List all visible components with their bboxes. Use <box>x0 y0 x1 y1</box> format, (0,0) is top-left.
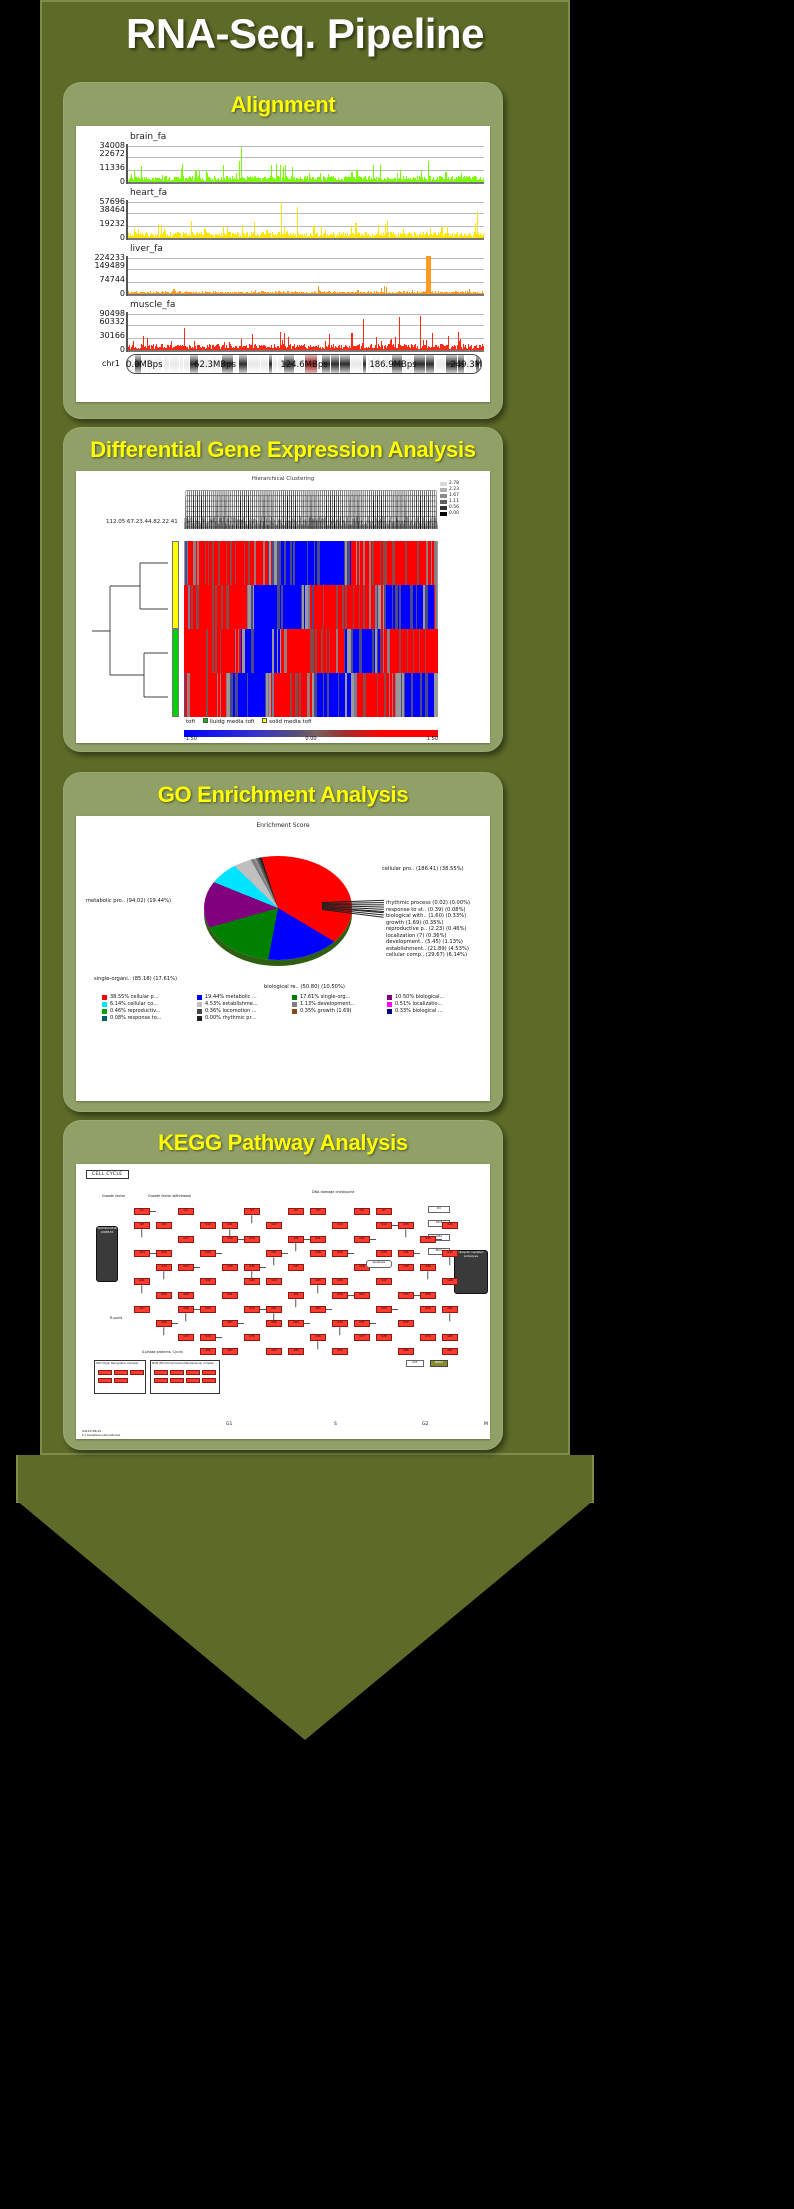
legend-swatch <box>197 1009 202 1014</box>
group-band <box>172 541 179 629</box>
kegg-gene-box: G82 <box>222 1348 238 1355</box>
kegg-gene-box: G28 <box>310 1250 326 1257</box>
kegg-gene-box: G2 <box>178 1208 194 1215</box>
kegg-apoptosis-box: Apoptosis <box>366 1260 392 1268</box>
kegg-gene-box: G23 <box>420 1236 436 1243</box>
color-key-label: 0.00 <box>449 511 459 516</box>
track-y-axis: 3400822672113360 <box>76 142 126 186</box>
kegg-annotation: Growth factor withdrawal <box>148 1194 191 1198</box>
kegg-annotation: DNA damage checkpoint <box>312 1190 354 1194</box>
column-dendrogram <box>184 483 438 529</box>
axis-tick: 30166 <box>100 332 125 340</box>
track-plot <box>128 144 484 184</box>
kegg-gene-box: G51 <box>222 1292 238 1299</box>
kegg-gene-box: G83 <box>266 1348 282 1355</box>
gradient-tick: 1.50 <box>427 736 438 742</box>
kegg-gene-box <box>186 1370 200 1375</box>
kegg-gene-box: G29 <box>332 1250 348 1257</box>
kegg-edge <box>252 1215 253 1223</box>
kegg-gene-box: G49 <box>156 1292 172 1299</box>
kegg-gene-box: G85 <box>332 1348 348 1355</box>
pie-slice-label: biological re.. (50.80) (10.50%) <box>264 984 345 991</box>
go-legend-label: 10.50% biological... <box>395 994 444 1000</box>
kegg-annotation: Growth factor <box>102 1194 125 1198</box>
track-y-axis: 9049860332301660 <box>76 310 126 354</box>
genomic-axis-tick: 62.3MBps <box>194 360 236 370</box>
axis-tick: 0 <box>120 290 125 298</box>
kegg-edge <box>318 1285 319 1293</box>
kegg-gene-box: G6 <box>354 1208 370 1215</box>
kegg-mcm-complex: MCM NUCLEAR COMPLEX <box>96 1226 118 1282</box>
legend-swatch <box>102 1009 107 1014</box>
gradient-tick: 0.00 <box>305 736 316 742</box>
track-plot <box>128 312 484 352</box>
kegg-phase-label: G1 <box>226 1422 232 1427</box>
coverage-bars <box>128 310 484 350</box>
kegg-gene-box <box>98 1378 112 1383</box>
genomic-axis-tick: 0.0MBps <box>126 360 163 370</box>
kegg-edge <box>150 1211 156 1212</box>
kegg-gene-box: G78 <box>376 1334 392 1341</box>
axis-tick: 19232 <box>100 220 125 228</box>
kegg-gene-box: G76 <box>310 1334 326 1341</box>
go-legend-entry: 19.44% metabolic ... <box>197 994 290 1000</box>
legend-label: liuidg media tofi <box>210 719 256 725</box>
kegg-gene-box: G43 <box>244 1278 260 1285</box>
kegg-gene-box: G53 <box>332 1292 348 1299</box>
go-legend-label: 6.14% cellular co... <box>110 1001 158 1007</box>
kegg-gene-box: G59 <box>200 1306 216 1313</box>
kegg-gene-box: G47 <box>376 1278 392 1285</box>
kegg-footer: 04110 08/12(c) Kanehisa Laboratories <box>82 1429 120 1437</box>
go-legend-entry: 0.00% rhythmic pr... <box>197 1015 290 1021</box>
pie-slice-label: metabolic pro.. (94.02) (19.44%) <box>86 898 171 905</box>
row-dendrogram <box>88 541 170 717</box>
go-legend-label: 0.35% growth (1.69) <box>300 1008 352 1014</box>
kegg-gene-box: G33 <box>156 1264 172 1271</box>
legend-swatch <box>102 1016 107 1021</box>
dendrogram-color-key: 2.782.231.671.110.560.00 <box>440 481 486 517</box>
axis-tick: 0 <box>120 234 125 242</box>
color-key-label: 2.78 <box>449 481 459 486</box>
track-y-axis: 5769638464192320 <box>76 198 126 242</box>
kegg-gene-box: G39 <box>398 1264 414 1271</box>
kegg-gene-box: G10 <box>200 1222 216 1229</box>
panel-title-kegg: KEGG Pathway Analysis <box>64 1121 502 1156</box>
kegg-edge <box>296 1299 297 1307</box>
kegg-canvas: Growth factorGrowth factor withdrawalDNA… <box>76 1164 490 1439</box>
kegg-gene-box <box>170 1370 184 1375</box>
kegg-gene-box: G46 <box>332 1278 348 1285</box>
kegg-gene-box: G87 <box>442 1348 458 1355</box>
legend-swatch <box>292 1002 297 1007</box>
kegg-gene-box <box>202 1378 216 1383</box>
kegg-gene-box: G1 <box>134 1208 150 1215</box>
track-label: liver_fa <box>130 244 163 254</box>
kegg-gene-box: G58 <box>178 1306 194 1313</box>
kegg-mcm-table: MCM (Mini-Chromosome Maintenance) comple… <box>150 1360 220 1394</box>
kegg-edge <box>282 1253 288 1254</box>
kegg-gene-box: G63 <box>376 1306 392 1313</box>
panel-title-dge: Differential Gene Expression Analysis <box>64 428 502 463</box>
kegg-gene-box: G61 <box>266 1306 282 1313</box>
kegg-gene-box: G67 <box>222 1320 238 1327</box>
kegg-gene-box: G80 <box>442 1334 458 1341</box>
coverage-bars <box>128 198 484 238</box>
alignment-track-heart_fa: heart_fa5769638464192320 <box>76 188 490 244</box>
heatmap-figure: Hierarchical Clustering 2.782.231.671.11… <box>76 471 490 743</box>
kegg-edge <box>436 1239 442 1240</box>
color-key-label: 2.23 <box>449 487 459 492</box>
kegg-gene-box: G66 <box>156 1320 172 1327</box>
kegg-gene-box: G14 <box>376 1222 392 1229</box>
go-legend-entry: 10.50% biological... <box>387 994 480 1000</box>
kegg-gene-box: G22 <box>354 1236 370 1243</box>
legend-swatch <box>102 995 107 1000</box>
go-legend-entry: 4.53% establishme... <box>197 1001 290 1007</box>
kegg-gene-box: G48 <box>442 1278 458 1285</box>
kegg-gene-box <box>98 1370 112 1375</box>
alignment-track-brain_fa: brain_fa3400822672113360 <box>76 132 490 188</box>
track-label: heart_fa <box>130 188 167 198</box>
color-swatch <box>440 494 447 498</box>
go-legend-label: 38.55% cellular p... <box>110 994 158 1000</box>
genomic-axis: 0.0MBps62.3MBps124.6MBps186.9MBps249.3M <box>126 360 482 374</box>
kegg-gene-box: G21 <box>310 1236 326 1243</box>
kegg-gene-box: G81 <box>200 1348 216 1355</box>
heatmap-row <box>184 629 438 673</box>
kegg-gene-box: G37 <box>288 1264 304 1271</box>
color-swatch <box>440 500 447 504</box>
axis-tick: 0 <box>120 178 125 186</box>
kegg-mdm2-box: MDM2 <box>430 1360 448 1367</box>
kegg-gene-box: G36 <box>244 1264 260 1271</box>
legend-entry: liuidg media tofi <box>197 719 256 725</box>
kegg-edge <box>164 1327 165 1335</box>
kegg-gene-box <box>154 1378 168 1383</box>
legend-swatch <box>262 718 267 723</box>
pie-chart-wrapper: cellular pro.. (186.41) (38.55%)metaboli… <box>204 856 352 968</box>
kegg-gene-box <box>154 1370 168 1375</box>
legend-label: tofi <box>186 719 197 725</box>
kegg-gene-box: G70 <box>332 1320 348 1327</box>
kegg-phase-label: M <box>484 1422 488 1427</box>
kegg-gene-box: G56 <box>420 1292 436 1299</box>
track-label: muscle_fa <box>130 300 175 310</box>
heatmap-row <box>184 585 438 629</box>
kegg-gene-box: G18 <box>222 1236 238 1243</box>
chromosome-label: chr1 <box>102 359 120 368</box>
color-swatch <box>440 482 447 486</box>
legend-entry: solid media tofi <box>256 719 311 725</box>
kegg-edge <box>142 1229 143 1237</box>
kegg-gene-box: G40 <box>420 1264 436 1271</box>
color-swatch <box>440 488 447 492</box>
kegg-gene-box: G17 <box>178 1236 194 1243</box>
kegg-edge <box>296 1243 297 1251</box>
kegg-gene-box: G20 <box>288 1236 304 1243</box>
color-key-label: 0.56 <box>449 505 459 510</box>
legend-entry: tofi <box>186 719 197 725</box>
kegg-edge <box>340 1327 341 1335</box>
go-legend-label: 1.13% development... <box>300 1001 355 1007</box>
kegg-gene-box: G15 <box>398 1222 414 1229</box>
kegg-gene-box: G42 <box>200 1278 216 1285</box>
coverage-bars <box>128 142 484 182</box>
kegg-edge <box>186 1313 187 1321</box>
kegg-gene-box: G69 <box>288 1320 304 1327</box>
axis-tick: 11336 <box>100 164 125 172</box>
color-key-label: 1.11 <box>449 499 459 504</box>
go-legend-entry: 0.33% biological ... <box>387 1008 480 1014</box>
axis-tick: 60332 <box>100 318 125 326</box>
legend-swatch <box>197 1002 202 1007</box>
kegg-edge <box>216 1253 222 1254</box>
kegg-gene-box <box>130 1370 144 1375</box>
track-y-axis: 224233149489747440 <box>76 254 126 298</box>
go-legend-entry: 0.08% response to... <box>102 1015 195 1021</box>
go-legend-label: 0.51% localizatio... <box>395 1001 442 1007</box>
kegg-edge <box>428 1271 429 1279</box>
axis-tick: 38464 <box>100 206 125 214</box>
axis-tick: 22672 <box>100 150 125 158</box>
kegg-gene-box: G57 <box>134 1306 150 1313</box>
kegg-pathway-map: Growth factorGrowth factor withdrawalDNA… <box>76 1164 490 1439</box>
kegg-edge <box>142 1285 143 1293</box>
go-legend-label: 0.36% locomotion ... <box>205 1008 257 1014</box>
kegg-gene-box: G32 <box>442 1250 458 1257</box>
kegg-phase-label: G2 <box>422 1422 428 1427</box>
go-legend-entry: 0.46% reproductiv... <box>102 1008 195 1014</box>
kegg-gene-box: G8 <box>134 1222 150 1229</box>
kegg-gene-box: G4 <box>288 1208 304 1215</box>
kegg-gene-box <box>186 1378 200 1383</box>
kegg-edge <box>392 1309 398 1310</box>
legend-swatch <box>197 1016 202 1021</box>
kegg-gene-box: G35 <box>222 1264 238 1271</box>
panel-title-alignment: Alignment <box>64 83 502 118</box>
panel-go-enrichment[interactable]: GO Enrichment Analysis Enrichment Score … <box>63 772 503 1112</box>
alignment-track-liver_fa: liver_fa224233149489747440 <box>76 244 490 300</box>
kegg-gene-box: G52 <box>288 1292 304 1299</box>
kegg-gene-box: G41 <box>134 1278 150 1285</box>
kegg-gene-box: G9 <box>156 1222 172 1229</box>
go-legend-entry: 0.51% localizatio... <box>387 1001 480 1007</box>
go-legend-entry: 17.61% single-org... <box>292 994 385 1000</box>
kegg-ubiquitin-box: Ubiquitin mediated proteolysis <box>454 1250 488 1294</box>
go-legend-label: 17.61% single-org... <box>300 994 350 1000</box>
kegg-gene-box: G34 <box>178 1264 194 1271</box>
pie-small-labels: rhythmic process (0.02) (0.00%)response … <box>386 900 490 959</box>
coverage-bars <box>128 254 484 294</box>
kegg-gene-box: G30 <box>376 1250 392 1257</box>
heatmap-row <box>184 541 438 585</box>
kegg-gene-box: G27 <box>266 1250 282 1257</box>
kegg-gene-box: G75 <box>244 1334 260 1341</box>
kegg-gene-box: G86 <box>398 1348 414 1355</box>
kegg-edge <box>260 1267 266 1268</box>
kegg-gene-box: G13 <box>332 1222 348 1229</box>
pie-slice-label: cellular pro.. (186.41) (38.55%) <box>382 866 464 873</box>
panel-alignment[interactable]: Alignment brain_fa3400822672113360heart_… <box>63 82 503 419</box>
arrow-wings <box>16 1455 594 1503</box>
color-key-label: 1.67 <box>449 493 459 498</box>
kegg-gene-box: G60 <box>244 1306 260 1313</box>
go-legend-entry: 38.55% cellular p... <box>102 994 195 1000</box>
panel-title-go: GO Enrichment Analysis <box>64 773 502 808</box>
go-legend-label: 0.08% response to... <box>110 1015 161 1021</box>
panel-kegg-pathway[interactable]: KEGG Pathway Analysis Growth factorGrowt… <box>63 1120 503 1450</box>
pie-slice-label: single-organi.. (85.18) (17.61%) <box>94 976 177 983</box>
kegg-gene-box: G72 <box>398 1320 414 1327</box>
kegg-edge <box>414 1253 420 1254</box>
arrow-head <box>16 1500 594 1740</box>
genomic-axis-tick: 186.9MBps <box>369 360 416 370</box>
kegg-side-orc: Orc <box>428 1206 450 1213</box>
kegg-gene-box: G84 <box>288 1348 304 1355</box>
kegg-edge <box>238 1323 244 1324</box>
go-chart-title: Enrichment Score <box>256 822 309 829</box>
kegg-gene-box: G3 <box>244 1208 260 1215</box>
go-legend-label: 4.53% establishme... <box>205 1001 258 1007</box>
legend-swatch <box>387 995 392 1000</box>
chromosome-ideogram-wrapper: chr10.0MBps62.3MBps124.6MBps186.9MBps249… <box>76 350 490 378</box>
legend-swatch <box>292 995 297 1000</box>
kegg-orc-table: ORC Origin Recognition Complex <box>94 1360 146 1394</box>
kegg-edge <box>274 1257 275 1265</box>
kegg-edge <box>172 1323 178 1324</box>
kegg-gene-box <box>202 1370 216 1375</box>
legend-swatch <box>102 1002 107 1007</box>
alignment-track-muscle_fa: muscle_fa9049860332301660 <box>76 300 490 356</box>
go-pie-figure: Enrichment Score cellular pro.. (186.41)… <box>76 816 490 1101</box>
track-label: brain_fa <box>130 132 166 142</box>
kegg-gene-box: G11 <box>222 1222 238 1229</box>
go-legend-entry: 0.36% locomotion ... <box>197 1008 290 1014</box>
gradient-tick: -1.50 <box>184 736 197 742</box>
kegg-gene-box: G62 <box>310 1306 326 1313</box>
kegg-p53-box: p53 <box>406 1360 424 1367</box>
kegg-gene-box <box>114 1370 128 1375</box>
group-color-bar <box>172 541 179 717</box>
kegg-phase-label: S <box>334 1422 337 1427</box>
kegg-edge <box>406 1229 407 1237</box>
kegg-gene-box: G31 <box>398 1250 414 1257</box>
kegg-edge <box>318 1341 319 1349</box>
color-swatch <box>440 506 447 510</box>
kegg-gene-box: G77 <box>354 1334 370 1341</box>
kegg-gene-box: G26 <box>200 1250 216 1257</box>
go-legend-entry: 1.13% development... <box>292 1001 385 1007</box>
kegg-annotation: S-phase proteins, Cyclin <box>142 1350 183 1354</box>
kegg-gene-box <box>114 1378 128 1383</box>
row-axis-ticks: 112.05 67.23.44.82.22.41 <box>106 519 178 533</box>
go-legend-label: 0.33% biological ... <box>395 1008 443 1014</box>
axis-tick: 74744 <box>100 276 125 284</box>
go-legend: 38.55% cellular p...19.44% metabolic ...… <box>102 994 480 1021</box>
color-key-entry: 0.00 <box>440 511 486 517</box>
heatmap-title: Hierarchical Clustering <box>252 476 315 482</box>
pie-slice-label: cellular comp.. (29.67) (6.14%) <box>386 952 490 959</box>
kegg-gene-box: G50 <box>178 1292 194 1299</box>
kegg-gene-box: G7 <box>376 1208 392 1215</box>
legend-swatch <box>203 718 208 723</box>
legend-swatch <box>387 1002 392 1007</box>
kegg-gene-box: G73 <box>178 1334 194 1341</box>
kegg-gene-box: G16 <box>442 1222 458 1229</box>
color-swatch <box>440 512 447 516</box>
kegg-edge <box>450 1257 451 1265</box>
kegg-gene-box: G12 <box>266 1222 282 1229</box>
heatmap-legend: tofi liuidg media tofi solid media tofi <box>186 718 312 725</box>
legend-swatch <box>197 995 202 1000</box>
kegg-gene-box: G74 <box>200 1334 216 1341</box>
kegg-gene-box: G64 <box>420 1306 436 1313</box>
kegg-edge <box>326 1309 332 1310</box>
kegg-gene-box: G68 <box>266 1320 282 1327</box>
kegg-gene-box: G55 <box>398 1292 414 1299</box>
kegg-edge <box>450 1313 451 1321</box>
heatmap-gradient-labels: -1.500.001.50 <box>184 736 438 743</box>
kegg-gene-box: G71 <box>354 1320 370 1327</box>
kegg-gene-box: G65 <box>442 1306 458 1313</box>
group-band <box>172 629 179 717</box>
kegg-gene-box: G19 <box>244 1236 260 1243</box>
alignment-plot: brain_fa3400822672113360heart_fa57696384… <box>76 126 490 402</box>
kegg-edge <box>370 1239 376 1240</box>
kegg-edge <box>348 1253 354 1254</box>
heatmap-grid <box>184 541 438 717</box>
axis-tick: 149489 <box>94 262 125 270</box>
kegg-gene-box: G5 <box>310 1208 326 1215</box>
go-legend-label: 0.00% rhythmic pr... <box>205 1015 256 1021</box>
kegg-gene-box: G79 <box>420 1334 436 1341</box>
kegg-gene-box <box>170 1378 184 1383</box>
kegg-edge <box>164 1271 165 1279</box>
heatmap-row <box>184 673 438 717</box>
legend-label: solid media tofi <box>269 719 311 725</box>
kegg-gene-box: G45 <box>310 1278 326 1285</box>
track-plot <box>128 256 484 296</box>
kegg-gene-box: G44 <box>266 1278 282 1285</box>
page-title: RNA-Seq. Pipeline <box>40 10 570 58</box>
kegg-edge <box>194 1267 200 1268</box>
kegg-gene-box: G24 <box>134 1250 150 1257</box>
genomic-axis-tick: 249.3M <box>450 360 482 370</box>
kegg-gene-box: G25 <box>156 1250 172 1257</box>
track-plot <box>128 200 484 240</box>
kegg-gene-box: G54 <box>354 1292 370 1299</box>
kegg-map-title: CELL CYCLE <box>86 1170 129 1179</box>
kegg-annotation: R-point <box>110 1316 122 1320</box>
kegg-edge <box>304 1323 310 1324</box>
go-legend-label: 0.46% reproductiv... <box>110 1008 160 1014</box>
go-legend-label: 19.44% metabolic ... <box>205 994 257 1000</box>
genomic-axis-tick: 124.6MBps <box>280 360 327 370</box>
panel-differential-gene-expression[interactable]: Differential Gene Expression Analysis Hi… <box>63 427 503 752</box>
legend-swatch <box>387 1009 392 1014</box>
kegg-edge <box>216 1337 222 1338</box>
legend-swatch <box>292 1009 297 1014</box>
kegg-edge <box>370 1323 376 1324</box>
go-legend-entry: 6.14% cellular co... <box>102 1001 195 1007</box>
kegg-footer-line: (c) Kanehisa Laboratories <box>82 1433 120 1437</box>
go-legend-entry: 0.35% growth (1.69) <box>292 1008 385 1014</box>
